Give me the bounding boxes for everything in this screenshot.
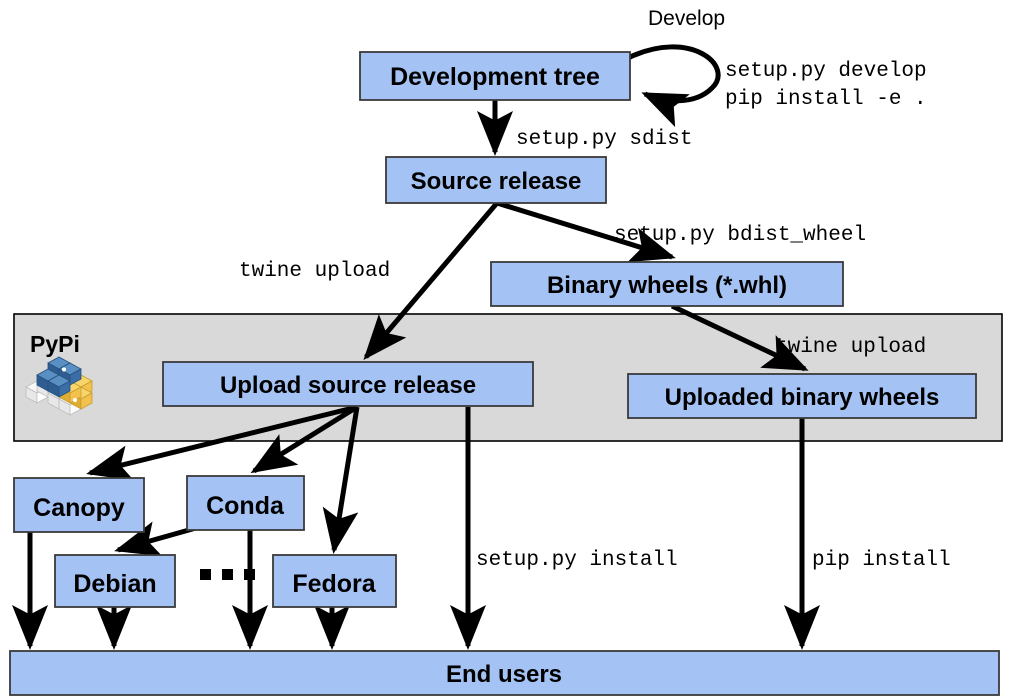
- edge-label-develop: Develop: [648, 7, 725, 30]
- node-dev-tree[interactable]: Development tree: [360, 52, 630, 100]
- more-distros-ellipsis: [200, 569, 255, 580]
- edge-label-setup-develop: setup.py develop: [725, 60, 927, 83]
- node-debian-label: Debian: [73, 570, 156, 598]
- node-canopy[interactable]: Canopy: [14, 478, 144, 532]
- node-conda-label: Conda: [206, 492, 285, 520]
- node-debian[interactable]: Debian: [55, 555, 175, 607]
- ellipsis-dot: [222, 569, 233, 580]
- edge-label-pip-install-editable: pip install -e .: [725, 88, 927, 111]
- edge-label-pip-install: pip install: [812, 549, 951, 572]
- node-binary-wheels-label: Binary wheels (*.whl): [547, 272, 787, 299]
- diagram-canvas: PyPi: [0, 0, 1009, 698]
- node-binary-wheels[interactable]: Binary wheels (*.whl): [491, 262, 843, 306]
- node-upload-source-label: Upload source release: [220, 372, 476, 399]
- node-end-users-label: End users: [446, 661, 562, 688]
- pypi-group-label: PyPi: [30, 331, 80, 357]
- edge-label-twine-upload-source: twine upload: [239, 260, 390, 283]
- node-uploaded-wheels[interactable]: Uploaded binary wheels: [628, 374, 976, 418]
- edge-label-setup-sdist: setup.py sdist: [516, 128, 692, 151]
- node-fedora[interactable]: Fedora: [273, 555, 396, 607]
- node-fedora-label: Fedora: [292, 570, 376, 598]
- ellipsis-dot: [244, 569, 255, 580]
- edge-label-twine-upload-wheels: twine upload: [775, 336, 926, 359]
- edge-develop-selfloop: [628, 47, 718, 101]
- edge-label-setup-install: setup.py install: [476, 549, 678, 572]
- node-uploaded-wheels-label: Uploaded binary wheels: [665, 384, 940, 411]
- node-dev-tree-label: Development tree: [390, 63, 600, 91]
- node-conda[interactable]: Conda: [187, 476, 304, 530]
- node-source-release[interactable]: Source release: [386, 157, 606, 203]
- node-end-users[interactable]: End users: [10, 651, 999, 695]
- node-canopy-label: Canopy: [33, 494, 125, 522]
- node-upload-source[interactable]: Upload source release: [163, 362, 533, 406]
- edge-label-setup-bdist-wheel: setup.py bdist_wheel: [614, 224, 866, 247]
- node-source-release-label: Source release: [411, 168, 582, 195]
- ellipsis-dot: [200, 569, 211, 580]
